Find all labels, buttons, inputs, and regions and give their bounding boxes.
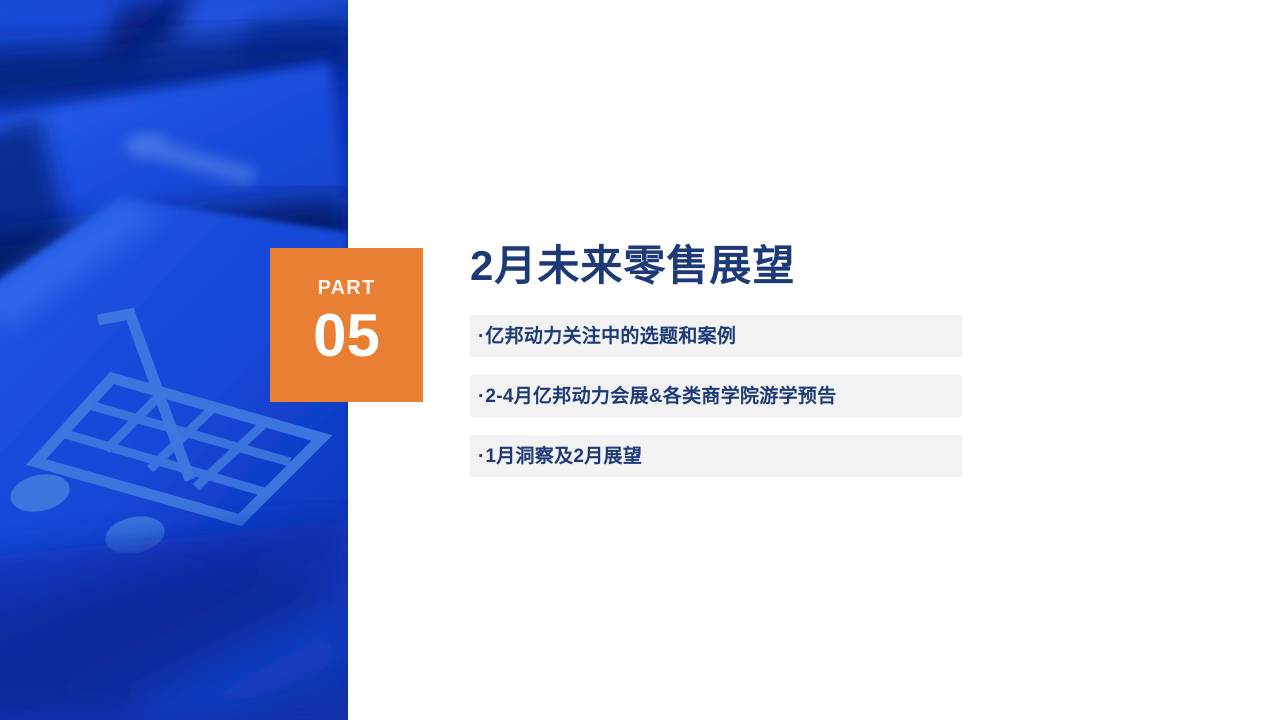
list-item-label: 2-4月亿邦动力会展&各类商学院游学预告 [485, 387, 836, 406]
agenda-list: · 亿邦动力关注中的选题和案例 · 2-4月亿邦动力会展&各类商学院游学预告 ·… [470, 315, 962, 477]
page-title: 2月未来零售展望 [470, 242, 962, 289]
list-item: · 1月洞察及2月展望 [470, 435, 962, 477]
part-number: 05 [313, 306, 380, 366]
part-label: PART [318, 278, 376, 298]
list-item-label: 1月洞察及2月展望 [485, 447, 642, 466]
list-item: · 2-4月亿邦动力会展&各类商学院游学预告 [470, 375, 962, 417]
bullet-marker-icon: · [478, 327, 484, 346]
list-item: · 亿邦动力关注中的选题和案例 [470, 315, 962, 357]
slide-canvas: PART 05 2月未来零售展望 · 亿邦动力关注中的选题和案例 · 2-4月亿… [0, 0, 1280, 720]
list-item-label: 亿邦动力关注中的选题和案例 [485, 327, 736, 346]
content-column: 2月未来零售展望 · 亿邦动力关注中的选题和案例 · 2-4月亿邦动力会展&各类… [470, 242, 962, 477]
bullet-marker-icon: · [478, 447, 484, 466]
part-number-badge: PART 05 [270, 248, 423, 402]
bullet-marker-icon: · [478, 387, 484, 406]
